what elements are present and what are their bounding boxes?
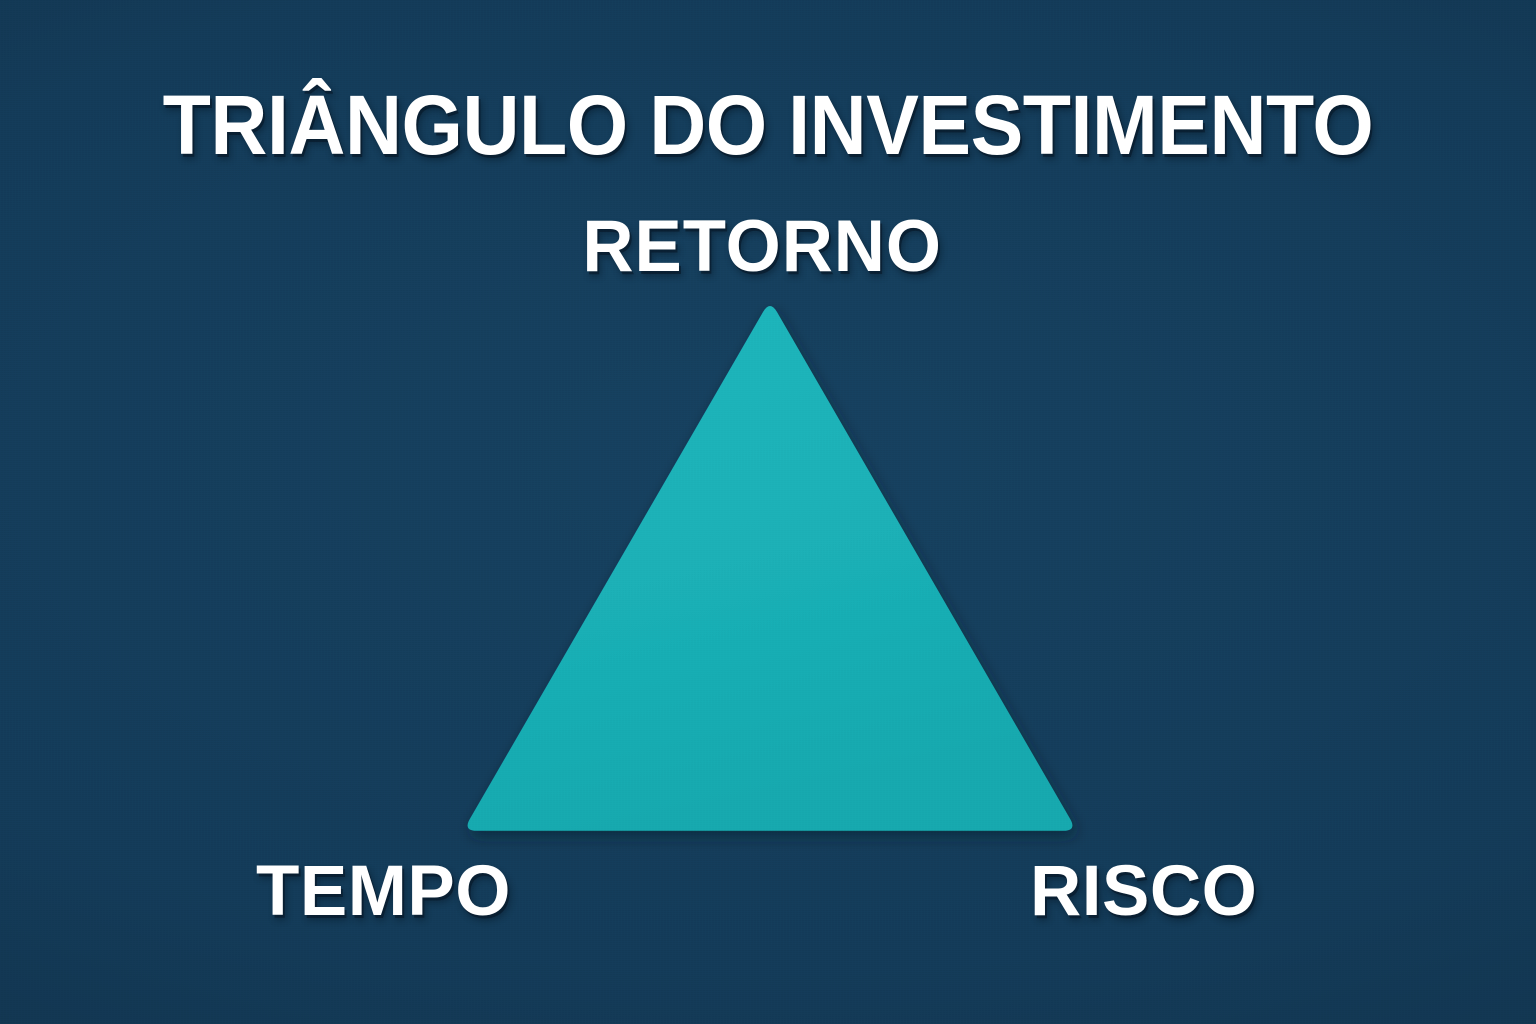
triangle-vertex-label-retorno: RETORNO (17, 210, 1507, 283)
investment-triangle-shape[interactable] (468, 306, 1073, 831)
triangle-vertex-label-tempo: TEMPO (256, 856, 511, 927)
slide-canvas: TRIÂNGULO DO INVESTIMENTO RETORNO TEMPO … (0, 0, 1536, 1024)
triangle-vertex-label-risco: RISCO (1030, 856, 1257, 927)
page-title: TRIÂNGULO DO INVESTIMENTO (46, 83, 1490, 167)
